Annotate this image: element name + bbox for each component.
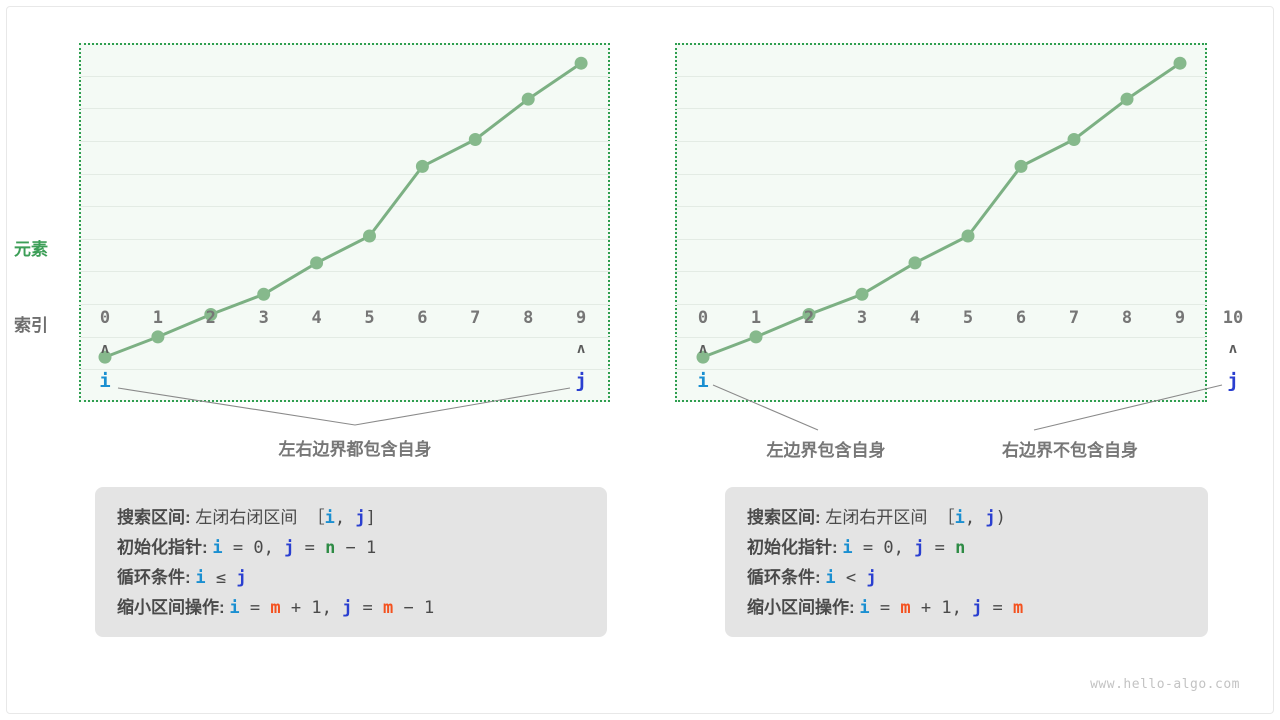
formula-row-label: 缩小区间操作: [747, 598, 859, 617]
formula-token: j [985, 508, 995, 528]
formula-row-label: 循环条件: [747, 568, 825, 587]
diagram-canvas: 元素 索引 0123456789 ʌiʌj 左右边界都包含自身 搜索区间: 左闭… [0, 0, 1280, 720]
formula-token: , [894, 538, 914, 558]
formula-token: i [859, 598, 869, 618]
formula-card-half-open-interval: 搜索区间: 左闭右开区间 ［i, j)初始化指针: i = 0, j = n循环… [725, 487, 1208, 637]
formula-row: 缩小区间操作: i = m + 1, j = m [747, 593, 1186, 623]
formula-token: j [866, 568, 876, 588]
caption-right-bound-exclusive: 右边界不包含自身 [1002, 436, 1138, 461]
formula-token: < [836, 568, 867, 588]
formula-token: i [842, 538, 852, 558]
formula-token: j [914, 538, 924, 558]
formula-token: , [952, 598, 972, 618]
caption-left-bound-inclusive: 左边界包含自身 [767, 436, 886, 461]
formula-row: 初始化指针: i = 0, j = n [747, 533, 1186, 563]
formula-token: + [911, 598, 942, 618]
formula-token: i [825, 568, 835, 588]
formula-row-label: 搜索区间: [747, 508, 825, 527]
formula-token: = [924, 538, 955, 558]
formula-token: = [853, 538, 884, 558]
formula-token: = [870, 598, 901, 618]
watermark: www.hello-algo.com [1090, 677, 1240, 692]
formula-token: , [965, 508, 985, 528]
formula-token: = [982, 598, 1013, 618]
formula-token: m [1013, 598, 1023, 618]
formula-token: m [900, 598, 910, 618]
formula-token: j [972, 598, 982, 618]
formula-row: 循环条件: i < j [747, 563, 1186, 593]
formula-row-label: 初始化指针: [747, 538, 842, 557]
formula-token: i [955, 508, 965, 528]
formula-token: n [955, 538, 965, 558]
formula-token: 0 [883, 538, 893, 558]
formula-token: ) [996, 508, 1006, 528]
formula-token: 左闭右开区间 ［ [825, 508, 954, 528]
formula-row: 搜索区间: 左闭右开区间 ［i, j) [747, 503, 1186, 533]
formula-token: 1 [941, 598, 951, 618]
